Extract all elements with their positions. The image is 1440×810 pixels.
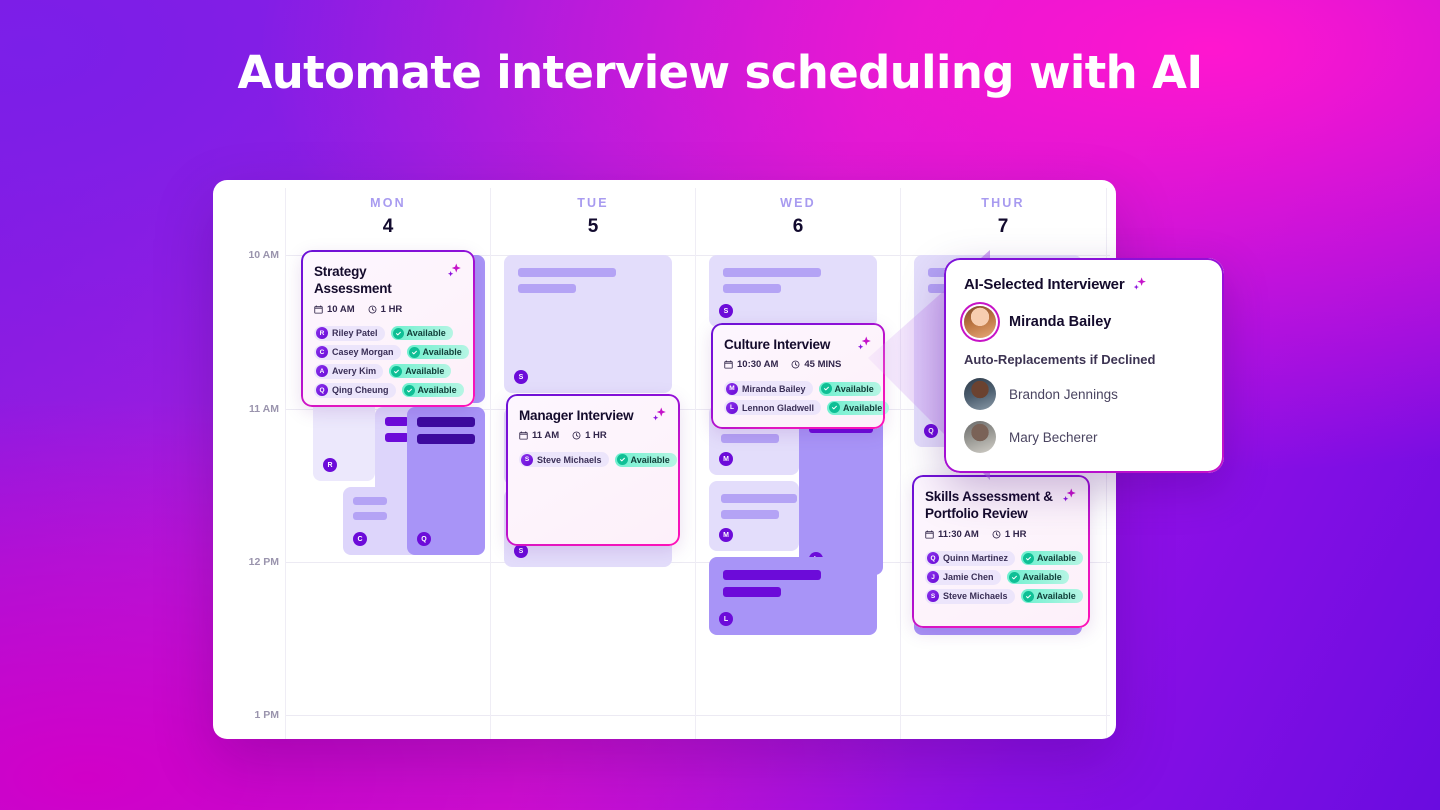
attendee-row: R Riley Patel Available (314, 326, 462, 341)
attendee-row: A Avery Kim Available (314, 364, 462, 379)
event-duration: 1 HR (572, 430, 607, 441)
check-icon (617, 454, 628, 465)
clock-icon (992, 530, 1001, 539)
event-duration: 1 HR (368, 304, 403, 315)
sparkle-icon (445, 262, 463, 280)
attendee-avatar: Q (417, 532, 431, 546)
check-icon (409, 347, 420, 358)
availability-badge: Available (1021, 589, 1083, 603)
availability-label: Available (843, 403, 882, 413)
placeholder-event[interactable]: M (709, 481, 799, 551)
event-meta: 10 AM 1 HR (314, 304, 462, 315)
day-number: 4 (285, 216, 491, 238)
availability-badge: Available (819, 382, 881, 396)
day-name: WED (695, 196, 901, 210)
clock-icon (572, 431, 581, 440)
check-icon (1009, 572, 1020, 583)
availability-badge: Available (389, 364, 451, 378)
column-divider (490, 188, 491, 739)
attendee-avatar: Q (924, 424, 938, 438)
calendar-icon (925, 530, 934, 539)
event-card-skills-assessment[interactable]: Skills Assessment & Portfolio Review 11:… (912, 475, 1090, 628)
day-header-wed[interactable]: WED6 (695, 196, 901, 238)
event-duration: 1 HR (992, 529, 1027, 540)
hour-label-1: 11 AM (229, 403, 279, 415)
sparkle-icon (1060, 487, 1078, 505)
attendee-list: R Riley Patel Available C Casey Morgan A… (314, 326, 462, 398)
event-card-manager-interview[interactable]: Manager Interview 11 AM 1 HR S Steve Mic… (506, 394, 680, 546)
placeholder-event[interactable]: L (709, 557, 877, 635)
attendee-row: L Lennon Gladwell Available (724, 400, 872, 415)
auto-replacements-heading: Auto-Replacements if Declined (964, 352, 1204, 367)
attendee-avatar: M (719, 528, 733, 542)
day-number: 7 (900, 216, 1106, 238)
event-card-strategy-assessment[interactable]: Strategy Assessment 10 AM 1 HR R Riley P… (301, 250, 475, 407)
check-icon (391, 366, 402, 377)
event-card-culture-interview[interactable]: Culture Interview 10:30 AM 45 MINS M Mir… (711, 323, 885, 429)
event-meta: 11:30 AM 1 HR (925, 529, 1077, 540)
event-time: 10 AM (314, 304, 355, 315)
hour-label-3: 1 PM (229, 709, 279, 721)
event-meta: 11 AM 1 HR (519, 430, 667, 441)
event-duration: 45 MINS (791, 359, 841, 370)
attendee-chip[interactable]: M Miranda Bailey (724, 381, 813, 396)
attendee-name: Steve Michaels (943, 591, 1008, 601)
day-header-mon[interactable]: MON4 (285, 196, 491, 238)
attendee-row: C Casey Morgan Available (314, 345, 462, 360)
attendee-name: Jamie Chen (943, 572, 994, 582)
availability-label: Available (1023, 572, 1062, 582)
availability-badge: Available (827, 401, 889, 415)
attendee-name: Avery Kim (332, 366, 376, 376)
check-icon (829, 402, 840, 413)
hour-label-0: 10 AM (229, 249, 279, 261)
attendee-name: Quinn Martinez (943, 553, 1008, 563)
check-icon (404, 385, 415, 396)
attendee-name: Steve Michaels (537, 455, 602, 465)
selected-interviewer-name: Miranda Bailey (1009, 314, 1111, 330)
event-time: 11:30 AM (925, 529, 979, 540)
attendee-avatar: C (353, 532, 367, 546)
clock-icon (368, 305, 377, 314)
replacement-name: Mary Becherer (1009, 430, 1098, 445)
attendee-row: J Jamie Chen Available (925, 570, 1077, 585)
attendee-chip[interactable]: S Steve Michaels (519, 452, 609, 467)
availability-label: Available (405, 366, 444, 376)
attendee-chip[interactable]: C Casey Morgan (314, 345, 401, 360)
day-number: 5 (490, 216, 696, 238)
attendee-avatar: R (316, 327, 328, 339)
attendee-avatar: J (927, 571, 939, 583)
attendee-row: Q Quinn Martinez Available (925, 551, 1077, 566)
day-name: TUE (490, 196, 696, 210)
ai-selected-interviewer-popup: AI-Selected Interviewer Miranda Bailey A… (944, 258, 1224, 473)
replacement-row[interactable]: Brandon Jennings (964, 378, 1204, 410)
day-header-tue[interactable]: TUE5 (490, 196, 696, 238)
clock-icon (791, 360, 800, 369)
column-divider (285, 188, 286, 739)
placeholder-event[interactable]: S (504, 255, 672, 393)
hour-label-2: 12 PM (229, 556, 279, 568)
attendee-name: Qing Cheung (332, 385, 389, 395)
attendee-name: Miranda Bailey (742, 384, 806, 394)
avatar-miranda-bailey (964, 306, 996, 338)
event-meta: 10:30 AM 45 MINS (724, 359, 872, 370)
placeholder-event[interactable]: S (709, 255, 877, 327)
check-icon (1023, 553, 1034, 564)
availability-badge: Available (615, 453, 677, 467)
day-number: 6 (695, 216, 901, 238)
calendar-icon (314, 305, 323, 314)
attendee-row: Q Qing Cheung Available (314, 383, 462, 398)
replacement-row[interactable]: Mary Becherer (964, 421, 1204, 453)
attendee-avatar: Q (927, 552, 939, 564)
availability-label: Available (1037, 591, 1076, 601)
attendee-row: M Miranda Bailey Available (724, 381, 872, 396)
availability-badge: Available (1021, 551, 1083, 565)
attendee-row: S Steve Michaels Available (519, 452, 667, 467)
attendee-avatar: A (316, 365, 328, 377)
availability-badge: Available (391, 326, 453, 340)
attendee-avatar: S (514, 370, 528, 384)
event-time: 10:30 AM (724, 359, 778, 370)
check-icon (393, 328, 404, 339)
attendee-chip[interactable]: Q Quinn Martinez (925, 551, 1015, 566)
avatar (964, 378, 996, 410)
availability-label: Available (1037, 553, 1076, 563)
attendee-avatar: L (719, 612, 733, 626)
event-title: Manager Interview (519, 407, 667, 424)
attendee-chip[interactable]: Q Qing Cheung (314, 383, 396, 398)
attendee-name: Lennon Gladwell (742, 403, 814, 413)
event-title: Strategy Assessment (314, 263, 462, 298)
availability-label: Available (835, 384, 874, 394)
calendar-day-headers: MON4TUE5WED6THUR7 (213, 180, 1116, 246)
calendar-icon (724, 360, 733, 369)
attendee-name: Riley Patel (332, 328, 378, 338)
event-title: Culture Interview (724, 336, 872, 353)
attendee-list: M Miranda Bailey Available L Lennon Glad… (724, 381, 872, 415)
placeholder-event[interactable]: C (343, 487, 405, 555)
attendee-avatar: S (514, 544, 528, 558)
attendee-avatar: M (726, 383, 738, 395)
availability-label: Available (407, 328, 446, 338)
attendee-chip[interactable]: J Jamie Chen (925, 570, 1001, 585)
event-time: 11 AM (519, 430, 559, 441)
availability-badge: Available (407, 345, 469, 359)
auto-replacements-list: Brandon Jennings Mary Becherer (964, 378, 1204, 453)
attendee-avatar: L (726, 402, 738, 414)
sparkle-icon (855, 335, 873, 353)
replacement-name: Brandon Jennings (1009, 387, 1118, 402)
column-divider (900, 188, 901, 739)
attendee-name: Casey Morgan (332, 347, 394, 357)
avatar (964, 421, 996, 453)
attendee-avatar: M (719, 452, 733, 466)
hour-gridline (285, 715, 1110, 716)
sparkle-icon (1131, 276, 1148, 293)
check-icon (1023, 591, 1034, 602)
availability-label: Available (631, 455, 670, 465)
sparkle-icon (650, 406, 668, 424)
availability-label: Available (423, 347, 462, 357)
attendee-avatar: R (323, 458, 337, 472)
availability-badge: Available (1007, 570, 1069, 584)
page-title: Automate interview scheduling with AI (0, 46, 1440, 99)
column-divider (695, 188, 696, 739)
availability-label: Available (418, 385, 457, 395)
attendee-avatar: S (719, 304, 733, 318)
availability-badge: Available (402, 383, 464, 397)
day-name: MON (285, 196, 491, 210)
placeholder-event[interactable]: Q (407, 407, 485, 555)
day-name: THUR (900, 196, 1106, 210)
attendee-chip[interactable]: L Lennon Gladwell (724, 400, 821, 415)
check-icon (821, 383, 832, 394)
day-header-thur[interactable]: THUR7 (900, 196, 1106, 238)
attendee-chip[interactable]: R Riley Patel (314, 326, 385, 341)
popup-header: AI-Selected Interviewer (964, 276, 1204, 293)
attendee-avatar: S (521, 454, 533, 466)
attendee-row: S Steve Michaels Available (925, 589, 1077, 604)
attendee-list: S Steve Michaels Available (519, 452, 667, 467)
event-title: Skills Assessment & Portfolio Review (925, 488, 1077, 523)
attendee-chip[interactable]: A Avery Kim (314, 364, 383, 379)
attendee-avatar: Q (316, 384, 328, 396)
calendar-icon (519, 431, 528, 440)
attendee-avatar: C (316, 346, 328, 358)
attendee-list: Q Quinn Martinez Available J Jamie Chen … (925, 551, 1077, 604)
attendee-avatar: S (927, 590, 939, 602)
popup-title: AI-Selected Interviewer (964, 276, 1124, 293)
attendee-chip[interactable]: S Steve Michaels (925, 589, 1015, 604)
selected-interviewer-row[interactable]: Miranda Bailey (964, 306, 1204, 338)
